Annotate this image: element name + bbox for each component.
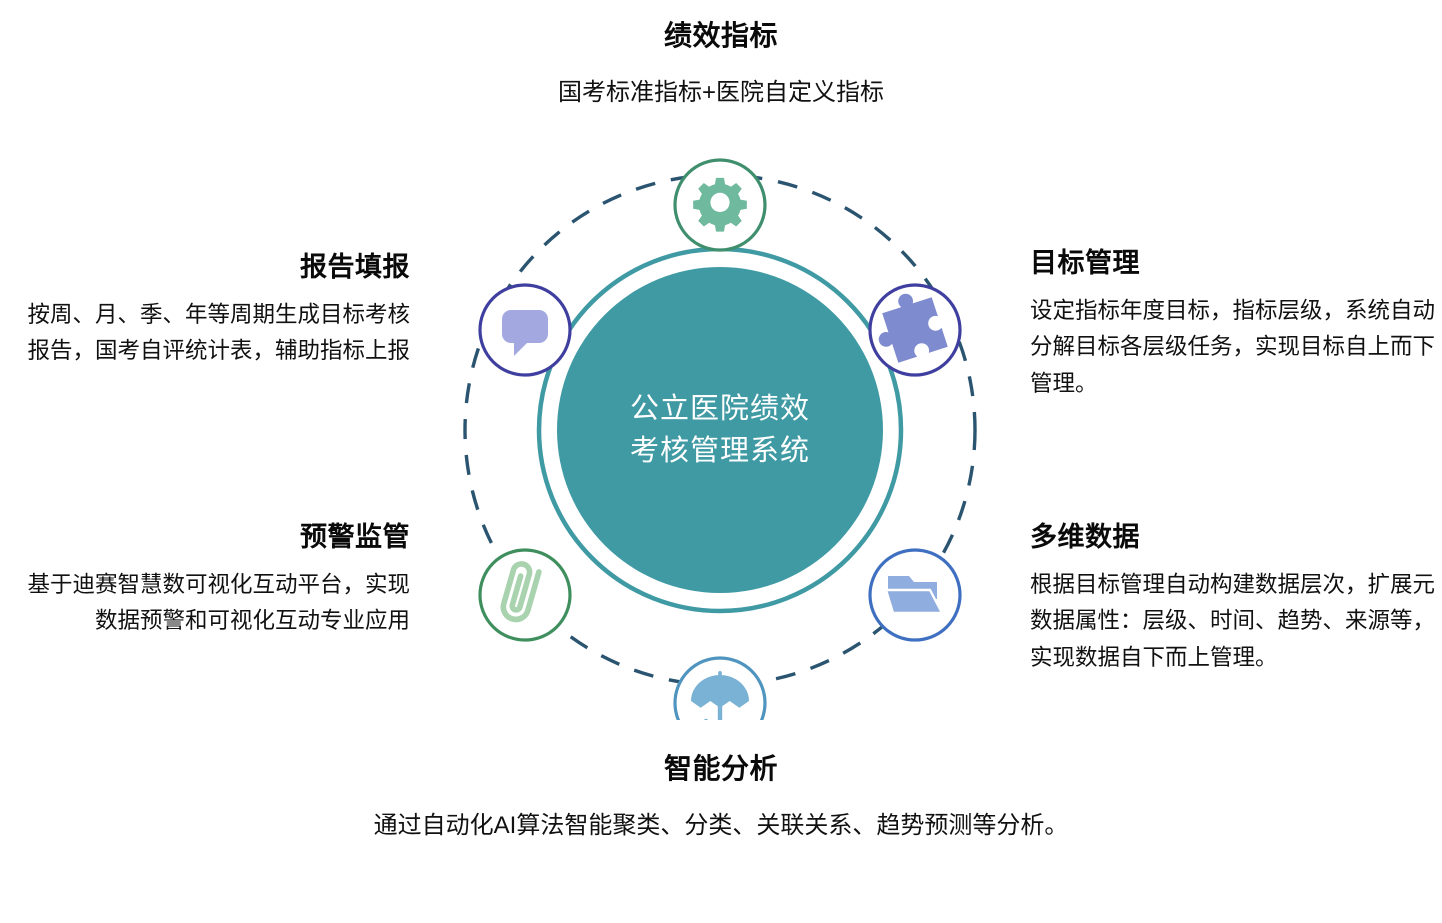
node-body-report-filling: 按周、月、季、年等周期生成目标考核报告，国考自评统计表，辅助指标上报 xyxy=(10,297,410,370)
node-text-goal-management: 目标管理 设定指标年度目标，指标层级，系统自动分解目标各层级任务，实现目标自上而… xyxy=(1030,248,1440,402)
node-heading-report-filling: 报告填报 xyxy=(10,252,410,283)
node-text-performance-indicator: 绩效指标 国考标准指标+医院自定义指标 xyxy=(421,20,1021,113)
icon-node-early-warning-supervision[interactable] xyxy=(480,550,570,640)
node-heading-multidimensional-data: 多维数据 xyxy=(1030,522,1440,553)
node-body-performance-indicator: 国考标准指标+医院自定义指标 xyxy=(421,74,1021,113)
icon-node-performance-indicator[interactable] xyxy=(675,160,765,250)
icon-node-goal-management[interactable] xyxy=(867,285,960,375)
node-heading-intelligent-analysis: 智能分析 xyxy=(321,753,1121,785)
icon-node-multidimensional-data[interactable] xyxy=(870,550,960,640)
node-body-intelligent-analysis: 通过自动化AI算法智能聚类、分类、关联关系、趋势预测等分析。 xyxy=(321,807,1121,844)
node-heading-early-warning-supervision: 预警监管 xyxy=(10,522,410,553)
node-body-goal-management: 设定指标年度目标，指标层级，系统自动分解目标各层级任务，实现目标自上而下管理。 xyxy=(1030,293,1440,402)
node-heading-performance-indicator: 绩效指标 xyxy=(421,20,1021,52)
node-text-early-warning-supervision: 预警监管 基于迪赛智慧数可视化互动平台，实现数据预警和可视化互动专业应用 xyxy=(10,522,410,640)
node-text-intelligent-analysis: 智能分析 通过自动化AI算法智能聚类、分类、关联关系、趋势预测等分析。 xyxy=(321,753,1121,844)
infographic-canvas: 绩效指标 国考标准指标+医院自定义指标 报告填报 按周、月、季、年等周期生成目标… xyxy=(0,0,1442,923)
node-text-multidimensional-data: 多维数据 根据目标管理自动构建数据层次，扩展元数据属性：层级、时间、趋势、来源等… xyxy=(1030,522,1440,676)
icon-node-report-filling[interactable] xyxy=(480,285,570,375)
node-body-multidimensional-data: 根据目标管理自动构建数据层次，扩展元数据属性：层级、时间、趋势、来源等，实现数据… xyxy=(1030,567,1440,676)
icon-node-intelligent-analysis[interactable] xyxy=(675,658,765,720)
node-body-early-warning-supervision: 基于迪赛智慧数可视化互动平台，实现数据预警和可视化互动专业应用 xyxy=(10,567,410,640)
gear-icon xyxy=(693,178,747,232)
node-text-report-filling: 报告填报 按周、月、季、年等周期生成目标考核报告，国考自评统计表，辅助指标上报 xyxy=(10,252,410,370)
node-heading-goal-management: 目标管理 xyxy=(1030,248,1440,279)
hub-circle xyxy=(557,267,883,593)
circular-diagram: 公立医院绩效 考核管理系统 xyxy=(430,140,1010,720)
